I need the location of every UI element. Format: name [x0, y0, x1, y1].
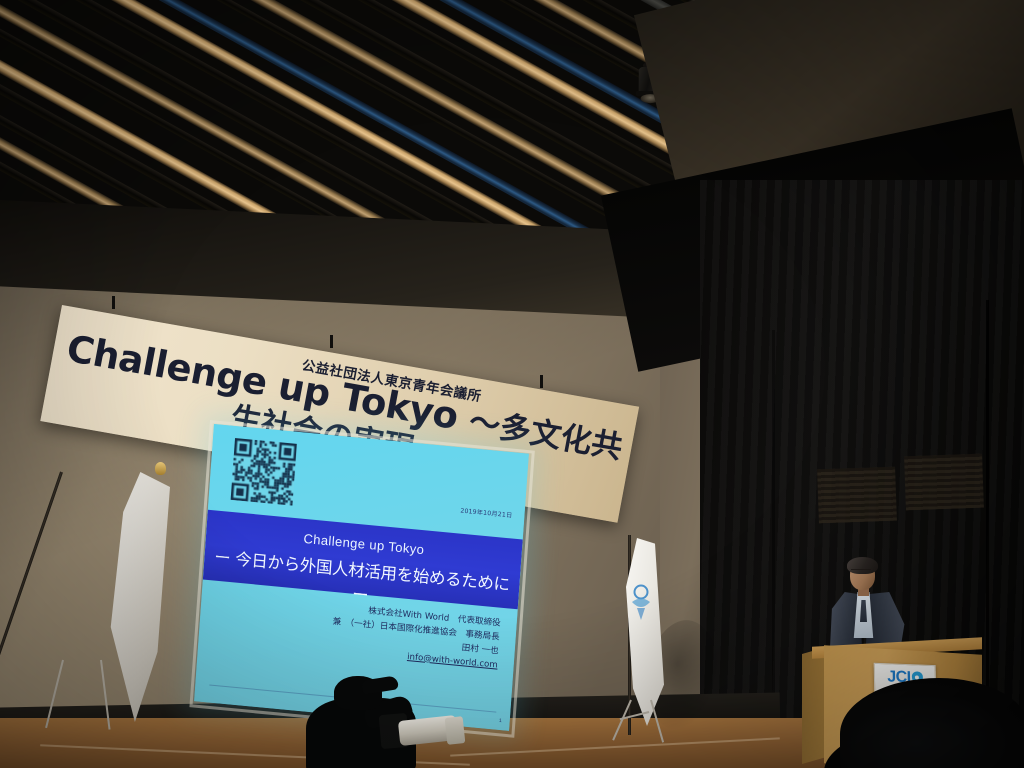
- acoustic-panel: [817, 467, 897, 524]
- slide-title-band: Challenge up Tokyo ー 今日から外国人材活用を始めるために ー: [203, 510, 523, 610]
- photographer-silhouette: [306, 676, 486, 768]
- banner-hanger: [540, 375, 543, 388]
- jci-emblem-icon: [628, 582, 654, 622]
- banner-hanger: [330, 335, 333, 348]
- glasses-icon: [851, 569, 871, 574]
- banner-hanger: [112, 296, 115, 309]
- acoustic-panel: [904, 454, 984, 511]
- stage-photo-scene: 公益社団法人東京青年会議所 Challenge up Tokyo 〜多文化共生社…: [0, 0, 1024, 768]
- curtain-seam: [772, 330, 775, 740]
- floor-marking: [450, 737, 780, 756]
- slide-date: 2019年10月21日: [460, 506, 513, 520]
- curtain-seam: [986, 300, 989, 740]
- flag-finial-icon: [155, 462, 166, 475]
- qr-code-icon: [231, 438, 297, 506]
- lens-hood-icon: [445, 716, 466, 745]
- slide-page-number: 1: [499, 718, 502, 724]
